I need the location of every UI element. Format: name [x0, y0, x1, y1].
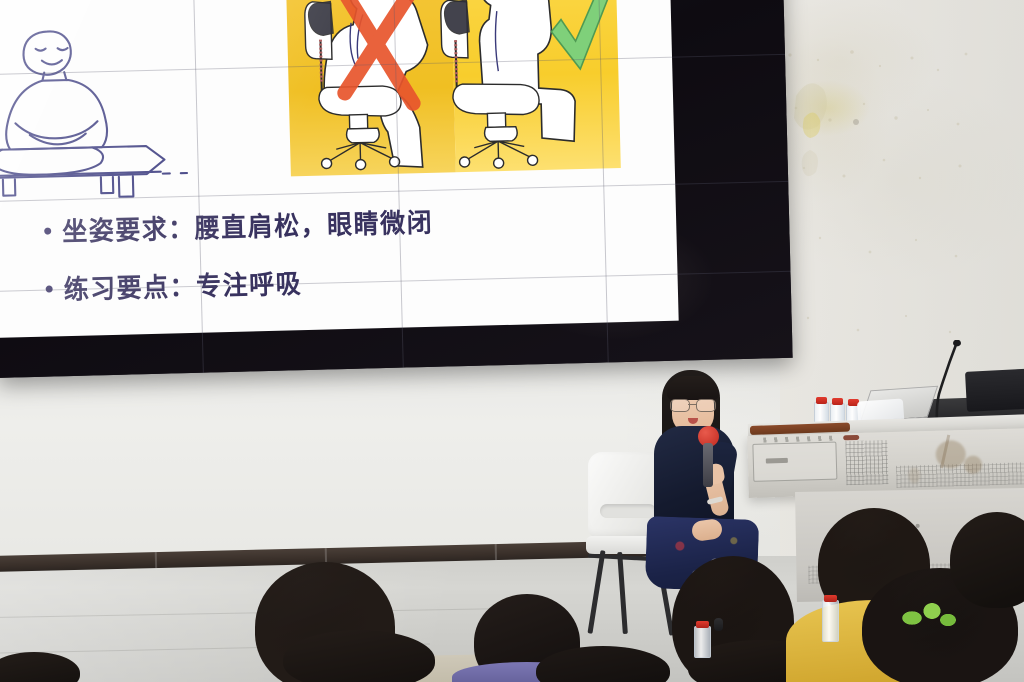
presentation-slide: MINDFULNESS [0, 0, 679, 338]
video-wall[interactable]: MINDFULNESS [0, 0, 793, 381]
podium-control-equipment [965, 368, 1024, 412]
sitting-posture-comparison [286, 0, 621, 176]
chair-leg [617, 552, 628, 634]
lecture-room-photo: MINDFULNESS [0, 0, 1024, 682]
posture-figures [286, 0, 621, 176]
potted-plant [898, 598, 960, 632]
chair-leg [587, 550, 605, 634]
slouched-person [321, 0, 431, 169]
water-bottle[interactable] [694, 626, 711, 658]
slide-bullet-1-text: 坐姿要求：腰直肩松，眼睛微闭 [62, 202, 434, 250]
bullet-dot-icon [44, 227, 51, 234]
slide-bullet-1: 坐姿要求：腰直肩松，眼睛微闭 [44, 197, 645, 248]
handheld-microphone[interactable] [698, 426, 720, 488]
meditating-figure-doodle [0, 1, 189, 206]
microphone-body [703, 443, 713, 487]
slide-bullet-list: 坐姿要求：腰直肩松，眼睛微闭 练习要点：专注呼吸 [44, 197, 647, 328]
audience-head-2 [283, 630, 435, 682]
water-bottle[interactable] [822, 600, 839, 642]
podium-front-face [747, 428, 1024, 498]
glasses-icon [670, 399, 716, 411]
podium-indicator-light [843, 435, 859, 440]
podium-speaker-grille [845, 440, 888, 485]
earphone-icon [714, 618, 723, 631]
hair-fringe [667, 376, 719, 400]
